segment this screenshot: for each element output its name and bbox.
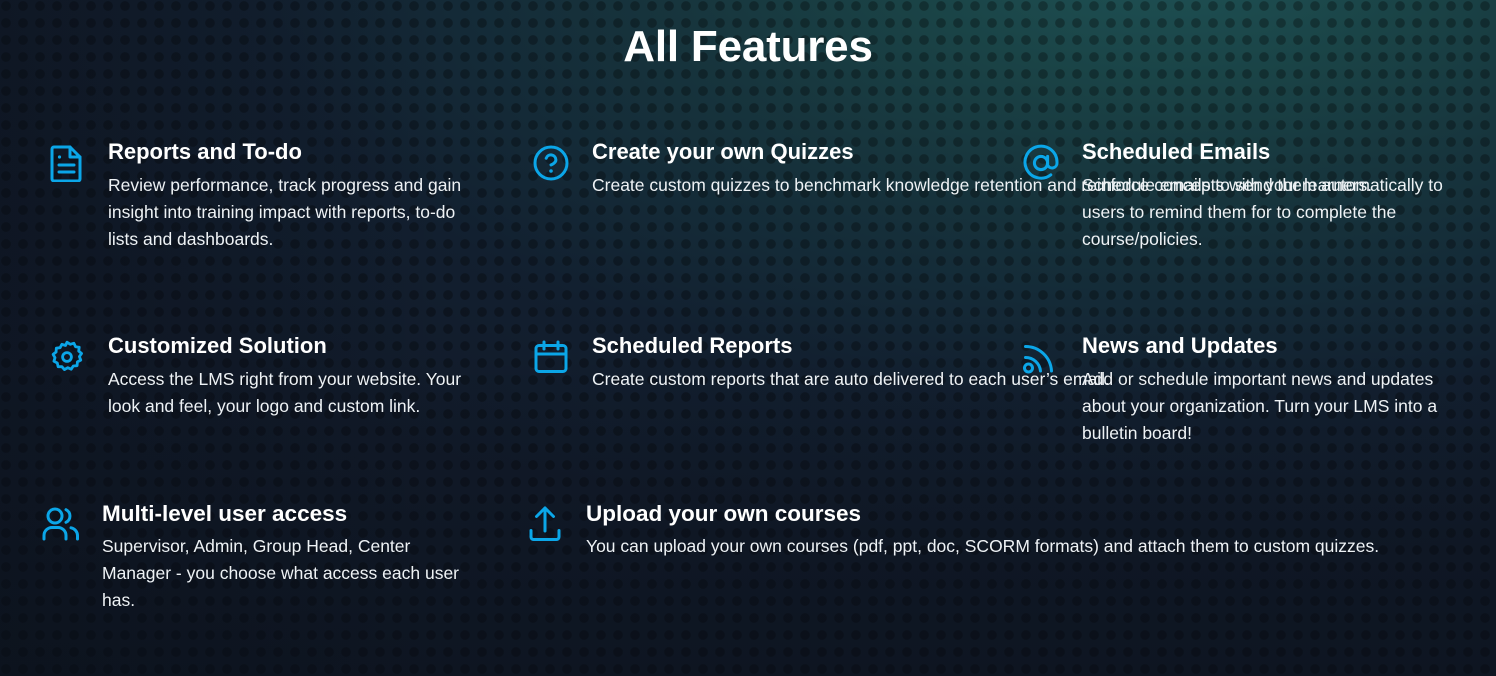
feature-card-upload-your-own-courses: Upload your own courses You can upload y… [0, 501, 1496, 615]
upload-icon [522, 503, 568, 545]
feature-card-news-and-updates: News and Updates Add or schedule importa… [0, 334, 1496, 501]
features-page: All Features Reports and To-do Review pe… [0, 0, 1496, 676]
feature-title: Upload your own courses [586, 501, 1468, 526]
at-sign-icon [1020, 142, 1062, 184]
feature-body: Upload your own courses You can upload y… [586, 501, 1468, 560]
feature-title: Scheduled Emails [1082, 140, 1468, 165]
feature-body: News and Updates Add or schedule importa… [1082, 334, 1468, 447]
feature-body: Scheduled Emails Schedule emails to send… [1082, 140, 1468, 253]
feature-title: News and Updates [1082, 334, 1468, 359]
page-title: All Features [0, 22, 1496, 72]
rss-feed-icon [1020, 336, 1062, 378]
feature-description: Add or schedule important news and updat… [1082, 366, 1468, 447]
feature-description: Schedule emails to send them automatical… [1082, 172, 1468, 253]
feature-card-scheduled-emails: Scheduled Emails Schedule emails to send… [0, 140, 1496, 334]
feature-description: You can upload your own courses (pdf, pp… [586, 533, 1468, 560]
features-grid: Reports and To-do Review performance, tr… [0, 140, 1496, 615]
